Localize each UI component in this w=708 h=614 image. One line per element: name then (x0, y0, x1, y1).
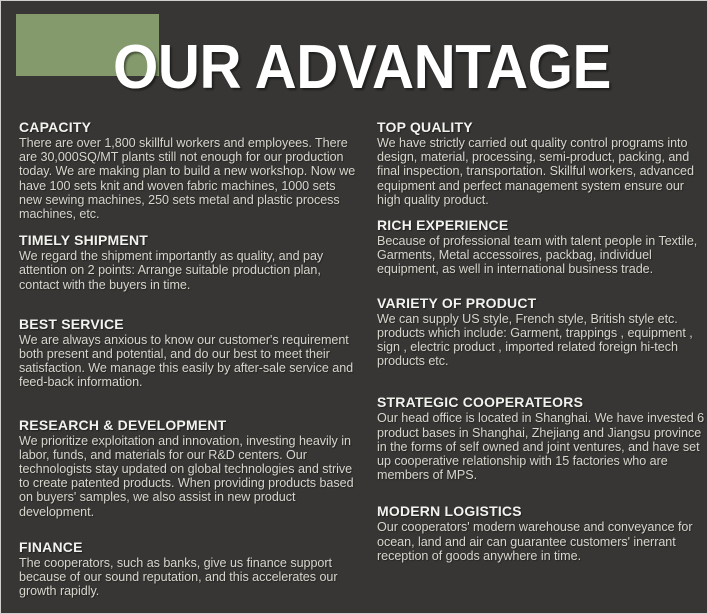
feature-body: We regard the shipment importantly as qu… (19, 249, 359, 292)
feature-capacity: CAPACITY There are over 1,800 skillful w… (19, 119, 359, 221)
feature-title: VARIETY OF PRODUCT (377, 295, 708, 311)
feature-body: We have strictly carried out quality con… (377, 136, 708, 207)
feature-body: Because of professional team with talent… (377, 234, 708, 277)
feature-timely-shipment: TIMELY SHIPMENT We regard the shipment i… (19, 232, 359, 292)
left-column: CAPACITY There are over 1,800 skillful w… (19, 119, 377, 613)
feature-body: We are always anxious to know our custom… (19, 333, 359, 390)
feature-body: We can supply US style, French style, Br… (377, 312, 708, 369)
feature-rich-experience: RICH EXPERIENCE Because of professional … (377, 217, 708, 277)
page-title: OUR ADVANTAGE (113, 37, 611, 99)
feature-body: We prioritize exploitation and innovatio… (19, 434, 359, 519)
feature-variety-of-product: VARIETY OF PRODUCT We can supply US styl… (377, 295, 708, 369)
poster-header: OUR ADVANTAGE (1, 1, 707, 119)
right-column: TOP QUALITY We have strictly carried out… (377, 119, 708, 613)
feature-title: STRATEGIC COOPERATEORS (377, 394, 708, 410)
feature-title: RESEARCH & DEVELOPMENT (19, 417, 359, 433)
advantage-poster: OUR ADVANTAGE CAPACITY There are over 1,… (0, 0, 708, 614)
feature-body: There are over 1,800 skillful workers an… (19, 136, 359, 221)
feature-title: TIMELY SHIPMENT (19, 232, 359, 248)
feature-best-service: BEST SERVICE We are always anxious to kn… (19, 316, 359, 390)
feature-title: MODERN LOGISTICS (377, 503, 708, 519)
feature-body: The cooperators, such as banks, give us … (19, 556, 359, 599)
feature-top-quality: TOP QUALITY We have strictly carried out… (377, 119, 708, 207)
feature-title: FINANCE (19, 539, 359, 555)
feature-body: Our head office is located in Shanghai. … (377, 411, 708, 482)
feature-title: CAPACITY (19, 119, 359, 135)
feature-research-development: RESEARCH & DEVELOPMENT We prioritize exp… (19, 417, 359, 519)
feature-modern-logistics: MODERN LOGISTICS Our cooperators' modern… (377, 503, 708, 563)
content-columns: CAPACITY There are over 1,800 skillful w… (1, 119, 707, 613)
feature-title: BEST SERVICE (19, 316, 359, 332)
feature-strategic-cooperateors: STRATEGIC COOPERATEORS Our head office i… (377, 394, 708, 482)
feature-finance: FINANCE The cooperators, such as banks, … (19, 539, 359, 599)
feature-title: RICH EXPERIENCE (377, 217, 708, 233)
feature-body: Our cooperators' modern warehouse and co… (377, 520, 708, 563)
feature-title: TOP QUALITY (377, 119, 708, 135)
